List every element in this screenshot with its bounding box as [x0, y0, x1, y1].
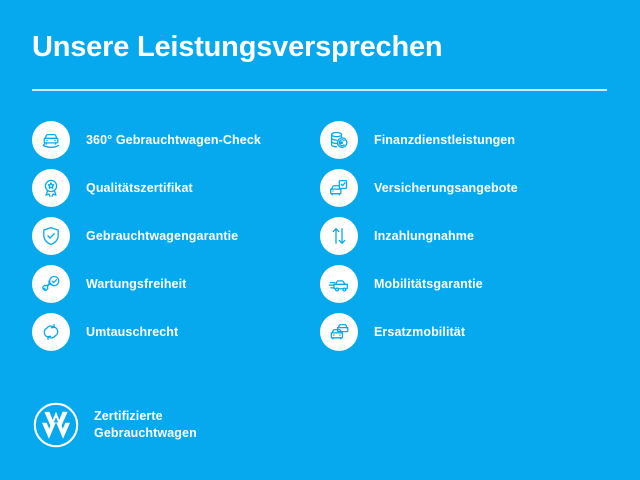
- feature-item[interactable]: Umtauschrecht: [32, 313, 320, 351]
- two-cars-icon: [320, 313, 358, 351]
- page-title: Unsere Leistungsversprechen: [32, 28, 608, 66]
- feature-label: Versicherungsangebote: [374, 180, 518, 196]
- feature-label: Wartungsfreiheit: [86, 276, 186, 292]
- feature-column-right: Finanzdienstleistungen Versicherungsange…: [320, 121, 608, 351]
- brand-text-line2: Gebrauchtwagen: [94, 425, 197, 442]
- feature-item[interactable]: Finanzdienstleistungen: [320, 121, 608, 159]
- feature-label: 360° Gebrauchtwagen-Check: [86, 132, 261, 148]
- title-divider: [32, 89, 607, 91]
- feature-label: Qualitätszertifikat: [86, 180, 193, 196]
- car-motion-icon: [320, 265, 358, 303]
- arrows-up-down-icon: [320, 217, 358, 255]
- feature-item[interactable]: Wartungsfreiheit: [32, 265, 320, 303]
- feature-column-left: 360° Gebrauchtwagen-Check Qualitätszerti…: [32, 121, 320, 351]
- feature-item[interactable]: Versicherungsangebote: [320, 169, 608, 207]
- brand-text: Zertifizierte Gebrauchtwagen: [94, 408, 197, 442]
- brand-text-line1: Zertifizierte: [94, 408, 197, 425]
- wrench-check-icon: [32, 265, 70, 303]
- feature-item[interactable]: Qualitätszertifikat: [32, 169, 320, 207]
- shield-check-icon: [32, 217, 70, 255]
- feature-item[interactable]: Mobilitätsgarantie: [320, 265, 608, 303]
- exchange-arrows-icon: [32, 313, 70, 351]
- slide-root: Unsere Leistungsversprechen: [0, 0, 640, 480]
- feature-label: Mobilitätsgarantie: [374, 276, 483, 292]
- feature-columns: 360° Gebrauchtwagen-Check Qualitätszerti…: [32, 121, 608, 351]
- feature-label: Gebrauchtwagengarantie: [86, 228, 238, 244]
- brand-lockup: Zertifizierte Gebrauchtwagen: [32, 401, 197, 449]
- car-360-check-icon: [32, 121, 70, 159]
- feature-label: Finanzdienstleistungen: [374, 132, 515, 148]
- coins-euro-icon: [320, 121, 358, 159]
- feature-item[interactable]: Inzahlungnahme: [320, 217, 608, 255]
- feature-label: Inzahlungnahme: [374, 228, 474, 244]
- car-document-icon: [320, 169, 358, 207]
- feature-item[interactable]: Gebrauchtwagengarantie: [32, 217, 320, 255]
- feature-item[interactable]: 360° Gebrauchtwagen-Check: [32, 121, 320, 159]
- vw-logo-icon: [32, 401, 80, 449]
- feature-item[interactable]: Ersatzmobilität: [320, 313, 608, 351]
- award-medal-icon: [32, 169, 70, 207]
- feature-label: Umtauschrecht: [86, 324, 178, 340]
- header: Unsere Leistungsversprechen: [32, 28, 608, 91]
- feature-label: Ersatzmobilität: [374, 324, 465, 340]
